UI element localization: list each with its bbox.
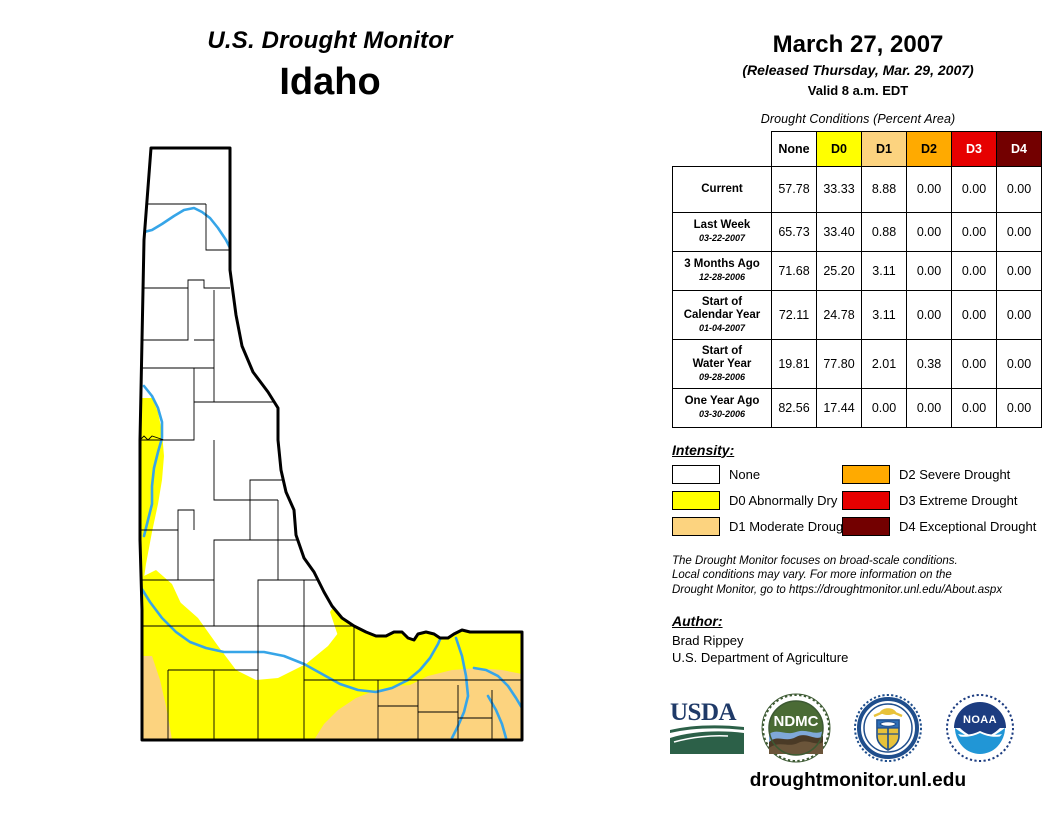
table-cell-d0: 17.44 <box>817 388 862 427</box>
author-heading: Author: <box>672 613 1056 629</box>
table-row-date: 03-22-2007 <box>674 232 770 244</box>
legend-swatch-icon <box>842 517 890 536</box>
table-cell-none: 65.73 <box>772 212 817 251</box>
table-header-d2: D2 <box>907 132 952 167</box>
table-row-label: One Year Ago03-30-2006 <box>673 388 772 427</box>
usda-logo: USDA <box>668 696 748 758</box>
legend-item-d1[interactable]: D1 Moderate Drought <box>672 517 842 536</box>
table-cell-none: 72.11 <box>772 290 817 339</box>
ndmc-logo: NDMC <box>758 690 834 766</box>
table-cell-d4: 0.00 <box>997 388 1042 427</box>
region-d0-east-upper <box>386 416 522 474</box>
svg-text:NDMC: NDMC <box>774 713 819 730</box>
table-cell-d0: 33.33 <box>817 166 862 212</box>
table-cell-none: 82.56 <box>772 388 817 427</box>
table-header-d1: D1 <box>862 132 907 167</box>
idaho-drought-map[interactable] <box>118 140 548 780</box>
table-row-label: Start ofWater Year09-28-2006 <box>673 339 772 388</box>
table-row-date: 03-30-2006 <box>674 408 770 420</box>
drought-conditions-table: NoneD0D1D2D3D4Current57.7833.338.880.000… <box>672 131 1042 428</box>
disclaimer-text: The Drought Monitor focuses on broad-sca… <box>672 554 1056 598</box>
table-cell-d3: 0.00 <box>952 339 997 388</box>
river-snake-east <box>448 490 474 614</box>
legend-label: D4 Exceptional Drought <box>899 519 1036 534</box>
svg-text:USDA: USDA <box>670 699 737 726</box>
table-header-d0: D0 <box>817 132 862 167</box>
info-panel: March 27, 2007 (Released Thursday, Mar. … <box>660 0 1056 816</box>
table-corner-cell <box>673 132 772 167</box>
table-cell-d3: 0.00 <box>952 166 997 212</box>
usdoc-seal <box>850 690 926 766</box>
legend-swatch-icon <box>842 491 890 510</box>
table-cell-none: 57.78 <box>772 166 817 212</box>
table-cell-d4: 0.00 <box>997 290 1042 339</box>
legend-swatch-icon <box>842 465 890 484</box>
release-date: (Released Thursday, Mar. 29, 2007) <box>660 60 1056 80</box>
table-cell-d1: 0.00 <box>862 388 907 427</box>
table-cell-d3: 0.00 <box>952 212 997 251</box>
table-cell-d2: 0.38 <box>907 339 952 388</box>
legend-item-d0[interactable]: D0 Abnormally Dry <box>672 491 842 510</box>
table-header-none: None <box>772 132 817 167</box>
map-fill-layer <box>118 140 548 780</box>
legend-label: D3 Extreme Drought <box>899 493 1018 508</box>
legend-item-d3[interactable]: D3 Extreme Drought <box>842 491 1056 510</box>
table-header-row: NoneD0D1D2D3D4 <box>673 132 1042 167</box>
table-row: 3 Months Ago12-28-200671.6825.203.110.00… <box>673 251 1042 290</box>
disclaimer-line-1: The Drought Monitor focuses on broad-sca… <box>672 554 1056 569</box>
table-row: Start ofCalendar Year01-04-200772.1124.7… <box>673 290 1042 339</box>
state-title: Idaho <box>0 58 660 106</box>
table-cell-d1: 0.88 <box>862 212 907 251</box>
table-cell-d3: 0.00 <box>952 251 997 290</box>
table-cell-d3: 0.00 <box>952 388 997 427</box>
table-cell-d0: 77.80 <box>817 339 862 388</box>
table-cell-none: 71.68 <box>772 251 817 290</box>
table-cell-d2: 0.00 <box>907 290 952 339</box>
noaa-logo: NOAA <box>942 690 1018 766</box>
table-row: Last Week03-22-200765.7333.400.880.000.0… <box>673 212 1042 251</box>
valid-date: March 27, 2007 <box>660 30 1056 60</box>
logo-row: USDA NDMC <box>660 688 1056 778</box>
table-cell-d1: 2.01 <box>862 339 907 388</box>
table-cell-d2: 0.00 <box>907 251 952 290</box>
table-cell-d2: 0.00 <box>907 212 952 251</box>
disclaimer-line-2: Local conditions may vary. For more info… <box>672 568 1056 583</box>
table-row: One Year Ago03-30-200682.5617.440.000.00… <box>673 388 1042 427</box>
table-row-date: 01-04-2007 <box>674 322 770 334</box>
table-row-label: Current <box>673 166 772 212</box>
table-caption: Drought Conditions (Percent Area) <box>660 112 1056 126</box>
legend-swatch-icon <box>672 491 720 510</box>
table-cell-d4: 0.00 <box>997 251 1042 290</box>
title-block: U.S. Drought Monitor Idaho <box>0 26 660 106</box>
legend-item-d2[interactable]: D2 Severe Drought <box>842 465 1056 484</box>
table-row: Start ofWater Year09-28-200619.8177.802.… <box>673 339 1042 388</box>
map-panel: U.S. Drought Monitor Idaho <box>0 0 660 816</box>
table-row-date: 09-28-2006 <box>674 371 770 383</box>
author-name: Brad Rippey <box>672 632 1056 649</box>
table-cell-none: 19.81 <box>772 339 817 388</box>
date-block: March 27, 2007 (Released Thursday, Mar. … <box>660 0 1056 100</box>
table-cell-d0: 25.20 <box>817 251 862 290</box>
table-cell-d0: 33.40 <box>817 212 862 251</box>
table-cell-d1: 8.88 <box>862 166 907 212</box>
region-d1-east-notch <box>380 470 418 490</box>
table-cell-d4: 0.00 <box>997 212 1042 251</box>
intensity-legend: Intensity: NoneD2 Severe DroughtD0 Abnor… <box>672 442 1056 536</box>
table-row-label: Start ofCalendar Year01-04-2007 <box>673 290 772 339</box>
table-cell-d3: 0.00 <box>952 290 997 339</box>
legend-swatch-icon <box>672 517 720 536</box>
table-cell-d2: 0.00 <box>907 166 952 212</box>
table-row-date: 12-28-2006 <box>674 271 770 283</box>
author-block: Author: Brad Rippey U.S. Department of A… <box>672 613 1056 666</box>
page-title: U.S. Drought Monitor <box>0 26 660 56</box>
table-header-d3: D3 <box>952 132 997 167</box>
legend-item-none[interactable]: None <box>672 465 842 484</box>
intensity-heading: Intensity: <box>672 442 1056 458</box>
svg-text:NOAA: NOAA <box>963 714 997 726</box>
table-cell-d4: 0.00 <box>997 339 1042 388</box>
legend-label: D1 Moderate Drought <box>729 519 854 534</box>
site-url[interactable]: droughtmonitor.unl.edu <box>660 770 1056 792</box>
table-row-label: 3 Months Ago12-28-2006 <box>673 251 772 290</box>
table-row: Current57.7833.338.880.000.000.00 <box>673 166 1042 212</box>
table-cell-d1: 3.11 <box>862 251 907 290</box>
legend-swatch-icon <box>672 465 720 484</box>
author-agency: U.S. Department of Agriculture <box>672 649 1056 666</box>
table-cell-d0: 24.78 <box>817 290 862 339</box>
legend-label: D0 Abnormally Dry <box>729 493 837 508</box>
table-cell-d1: 3.11 <box>862 290 907 339</box>
legend-label: None <box>729 467 760 482</box>
table-cell-d2: 0.00 <box>907 388 952 427</box>
table-row-label: Last Week03-22-2007 <box>673 212 772 251</box>
table-cell-d4: 0.00 <box>997 166 1042 212</box>
table-header-d4: D4 <box>997 132 1042 167</box>
valid-time: Valid 8 a.m. EDT <box>660 81 1056 100</box>
legend-label: D2 Severe Drought <box>899 467 1010 482</box>
disclaimer-line-3: Drought Monitor, go to https://droughtmo… <box>672 583 1056 598</box>
legend-item-d4[interactable]: D4 Exceptional Drought <box>842 517 1056 536</box>
